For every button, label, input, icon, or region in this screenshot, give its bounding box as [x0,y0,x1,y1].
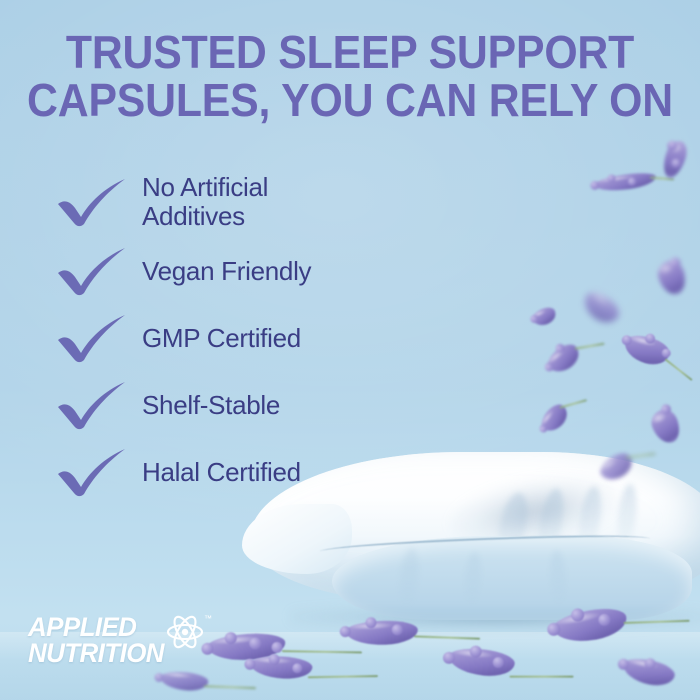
list-item-label: Halal Certified [142,458,301,487]
list-item: No Artificial Additives [56,166,386,238]
trademark-symbol: ™ [204,614,212,623]
product-marketing-image: TRUSTED SLEEP SUPPORT CAPSULES, YOU CAN … [0,0,700,700]
list-item: Shelf-Stable [56,374,386,436]
list-item-label: Vegan Friendly [142,257,311,286]
atom-icon [166,615,204,649]
list-item: Vegan Friendly [56,240,386,302]
brand-logo-line-1: APPLIED [28,614,164,640]
check-icon [56,313,142,363]
brand-logo: APPLIED NUTRITION ™ [28,614,228,674]
check-icon [56,177,142,227]
list-item-label: Shelf-Stable [142,391,280,420]
check-icon [56,447,142,497]
brand-logo-text: APPLIED NUTRITION [28,614,164,666]
list-item: Halal Certified [56,441,386,503]
list-item: GMP Certified [56,307,386,369]
benefits-list: No Artificial Additives Vegan Friendly G… [56,166,386,508]
check-icon [56,380,142,430]
brand-logo-line-2: NUTRITION [28,640,164,666]
headline-line-1: TRUSTED SLEEP SUPPORT [25,28,676,76]
check-icon [56,246,142,296]
page-title: TRUSTED SLEEP SUPPORT CAPSULES, YOU CAN … [25,28,676,124]
list-item-label: No Artificial Additives [142,173,268,231]
headline-line-2: CAPSULES, YOU CAN RELY ON [25,76,676,124]
list-item-label: GMP Certified [142,324,301,353]
